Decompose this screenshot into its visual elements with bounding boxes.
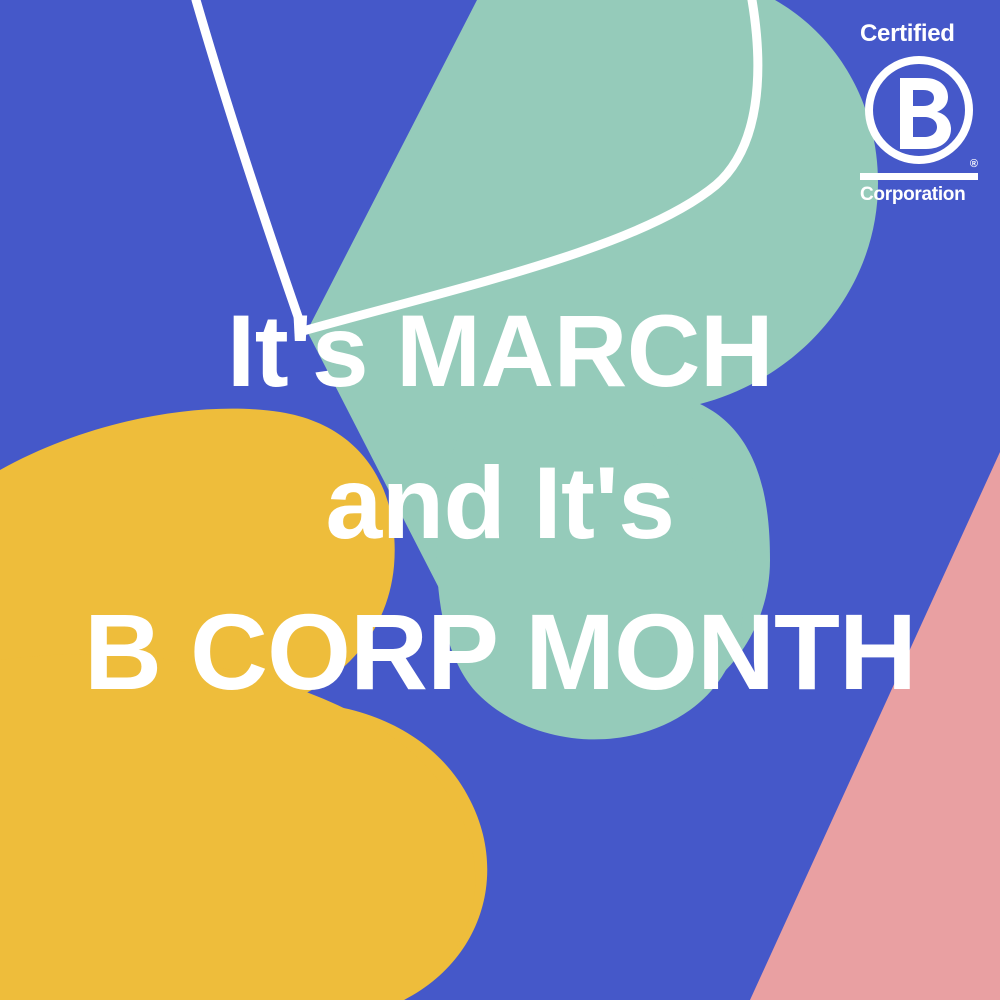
bcorp-divider-rule (860, 173, 978, 180)
certified-b-corporation-logo: Certified ® Corporation (858, 22, 980, 204)
registered-trademark-icon: ® (970, 159, 978, 170)
abstract-background-artwork (0, 0, 1000, 1000)
bcorp-circle-b-icon: ® (860, 54, 978, 166)
bcorp-month-poster: It's MARCH and It's B CORP MONTH Certifi… (0, 0, 1000, 1000)
bcorp-certified-label: Certified (858, 22, 980, 46)
bcorp-corporation-label: Corporation (858, 185, 980, 204)
